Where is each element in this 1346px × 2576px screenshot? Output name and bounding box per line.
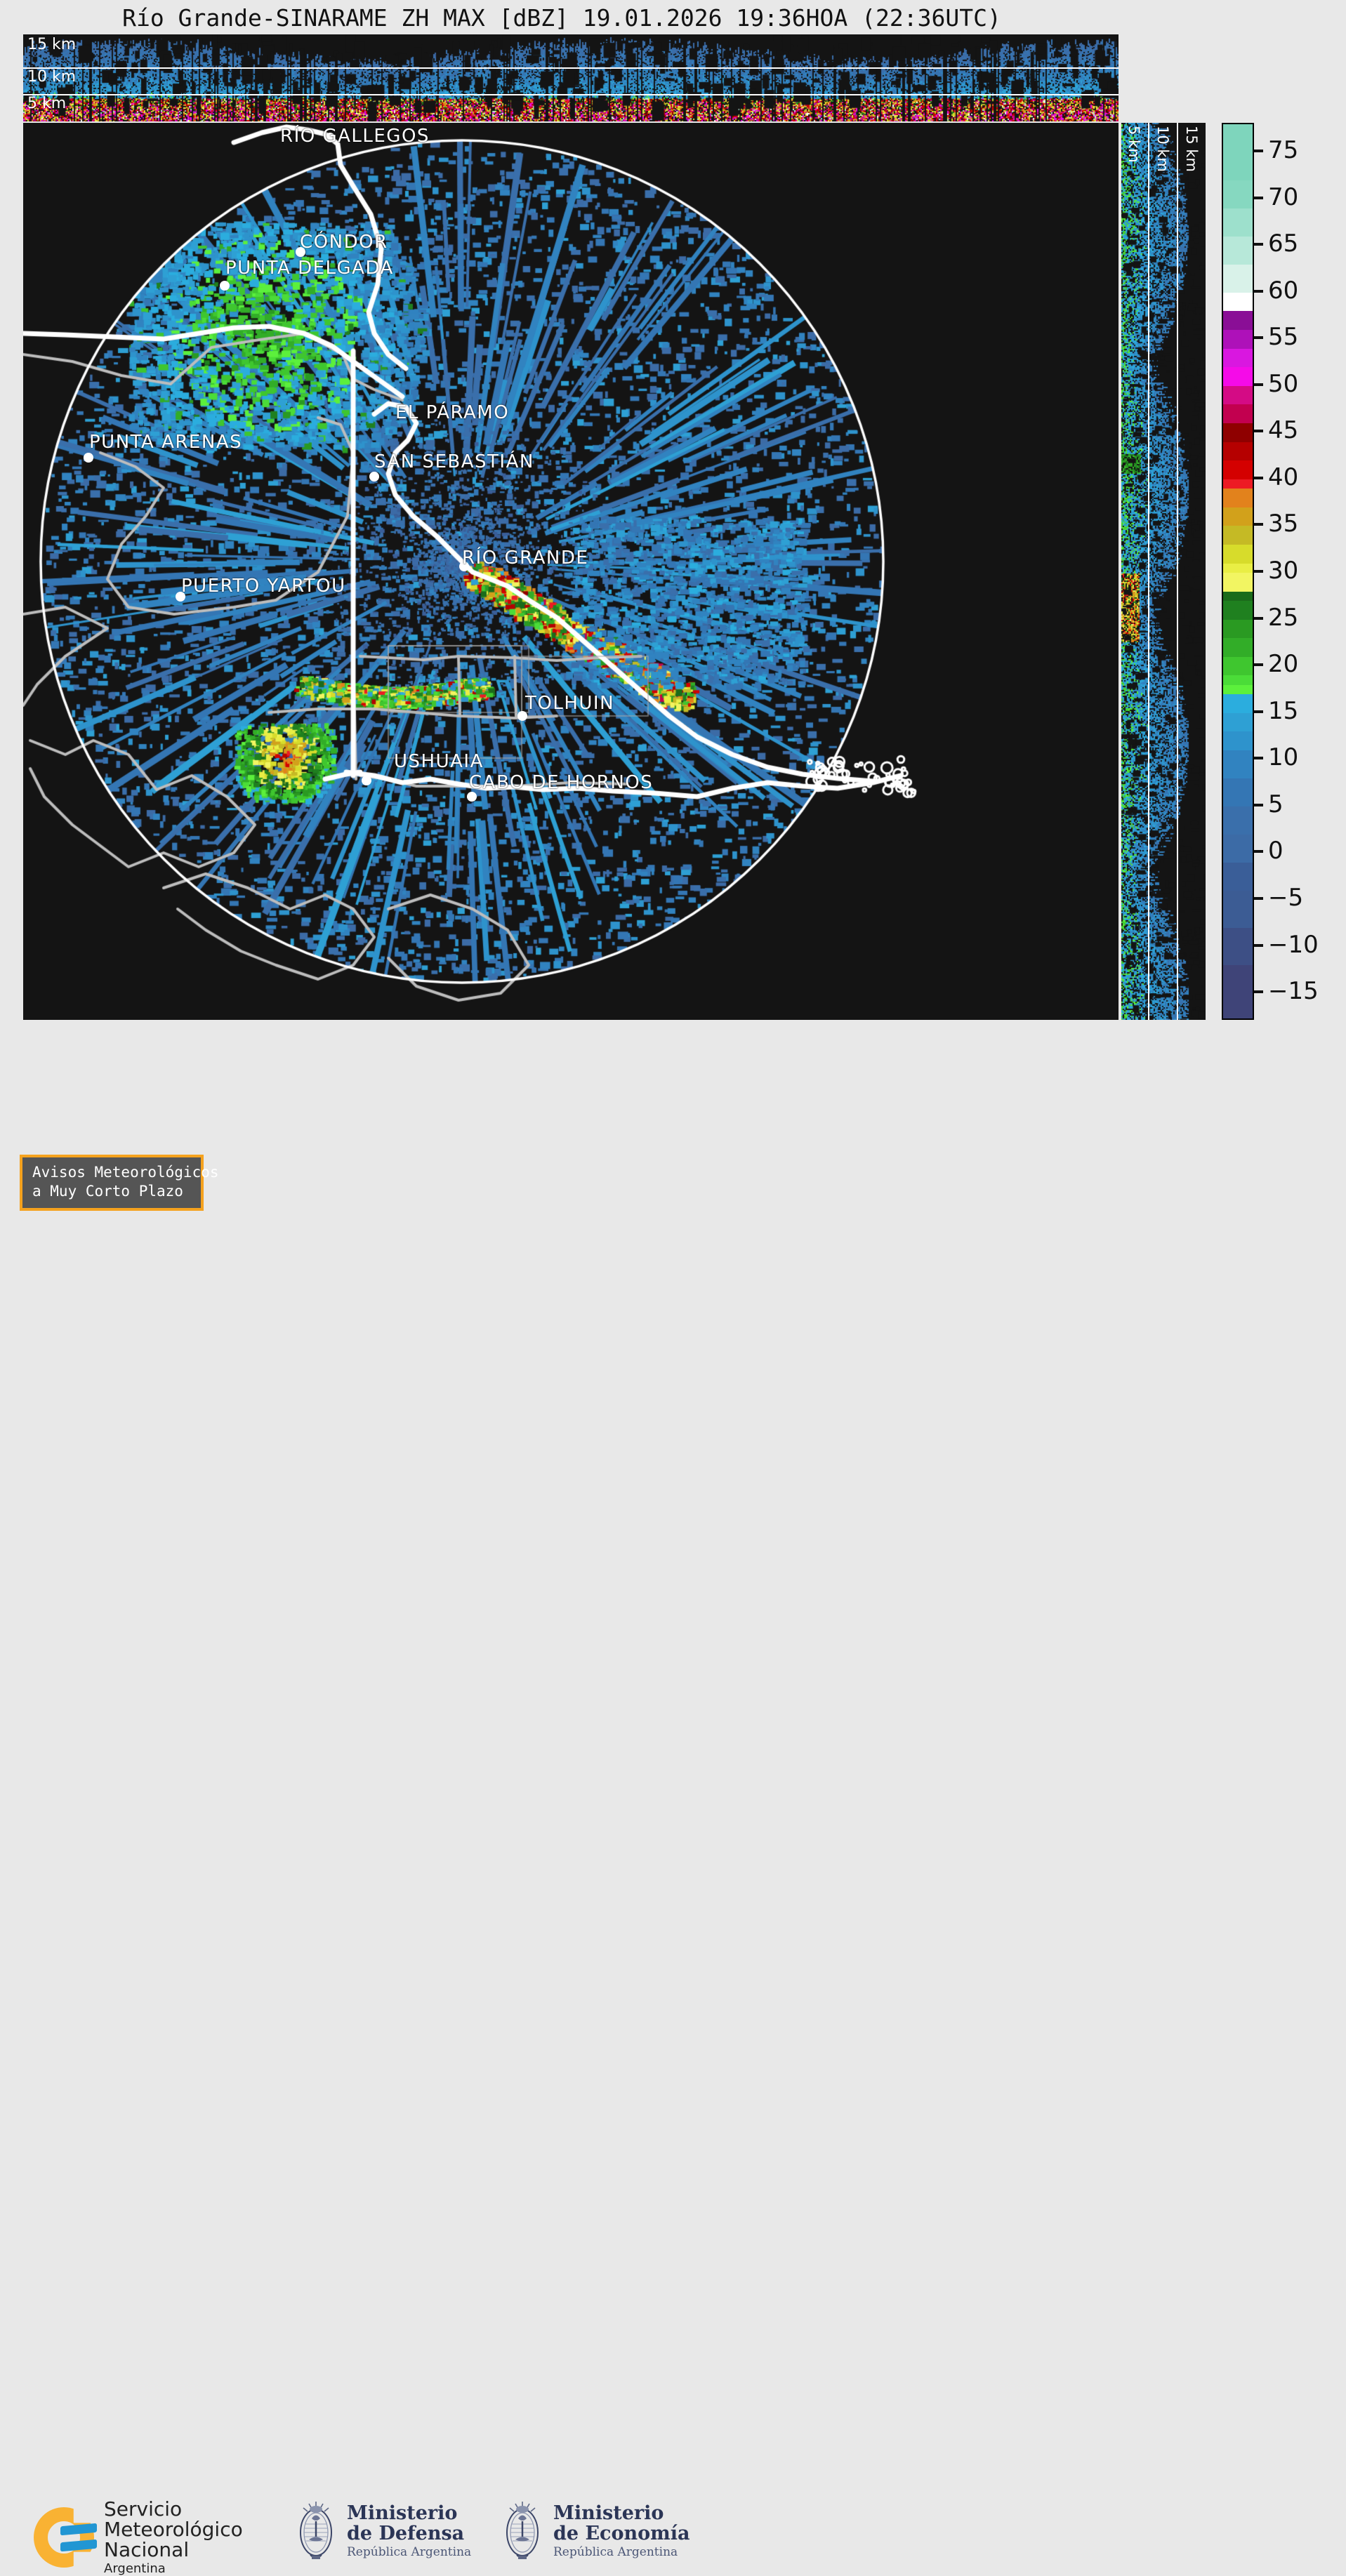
colorbar-band: [1223, 386, 1253, 405]
colorbar-band: [1223, 928, 1253, 965]
colorbar-gradient: [1222, 123, 1254, 1020]
colorbar-band: [1223, 293, 1253, 312]
logo-ministerio-de-defensa: Ministerio de Defensa República Argentin…: [293, 2500, 471, 2562]
colorbar-band: [1223, 601, 1253, 620]
city-label: USHUAIA: [394, 751, 484, 772]
colorbar-band: [1223, 460, 1253, 479]
altitude-label-right-5km: 5 km: [1126, 126, 1142, 163]
altitude-label-right-15km: 15 km: [1183, 126, 1200, 172]
colorbar-band: [1223, 367, 1253, 386]
city-label: CABO DE HORNOS: [469, 772, 653, 793]
altitude-gridline-5km: [23, 94, 1119, 95]
right-cross-section-panel: 5 km 10 km 15 km: [1121, 123, 1206, 1020]
city-label: CÓNDOR: [300, 232, 388, 253]
colorbar-band: [1223, 124, 1253, 152]
colorbar-band: [1223, 442, 1253, 461]
top-cross-section-canvas: [23, 34, 1119, 121]
altitude-gridline-right-10km: [1177, 123, 1178, 1020]
economia-line-1: Ministerio: [553, 2503, 690, 2523]
colorbar-band: [1223, 237, 1253, 265]
colorbar-band: [1223, 404, 1253, 423]
colorbar: 757065605550454035302520151050−5−10−15: [1222, 123, 1341, 1020]
smn-subtitle: Argentina: [104, 2563, 243, 2576]
smn-line-3: Nacional: [104, 2540, 243, 2560]
smn-line-1: Servicio: [104, 2499, 243, 2519]
colorbar-band: [1223, 965, 1253, 1020]
colorbar-band: [1223, 592, 1253, 601]
city-marker-dot: [467, 792, 477, 802]
altitude-label-10km: 10 km: [27, 69, 76, 85]
warning-line-1: Avisos Meteorológicos: [32, 1163, 192, 1182]
colorbar-band: [1223, 694, 1253, 713]
smn-line-2: Meteorológico: [104, 2519, 243, 2540]
weather-warning-legend[interactable]: Avisos Meteorológicos a Muy Corto Plazo: [20, 1155, 204, 1211]
city-marker-dot: [84, 453, 93, 463]
colorbar-band: [1223, 152, 1253, 180]
colorbar-tick-labels: 757065605550454035302520151050−5−10−15: [1254, 123, 1341, 1020]
colorbar-band: [1223, 349, 1253, 368]
defensa-line-1: Ministerio: [347, 2503, 471, 2523]
colorbar-band: [1223, 489, 1253, 507]
colorbar-band: [1223, 778, 1253, 806]
radar-map-canvas: [23, 123, 1119, 1020]
right-cross-section-canvas: [1121, 123, 1206, 1020]
city-label: PUERTO YARTOU: [181, 576, 346, 597]
warning-line-2: a Muy Corto Plazo: [32, 1182, 192, 1201]
colorbar-band: [1223, 208, 1253, 237]
economia-subtitle: República Argentina: [553, 2546, 690, 2558]
colorbar-band: [1223, 507, 1253, 526]
colorbar-band: [1223, 863, 1253, 891]
argentina-coat-of-arms-icon-2: [500, 2500, 545, 2562]
colorbar-band: [1223, 479, 1253, 489]
colorbar-band: [1223, 620, 1253, 639]
economia-line-2: de Economía: [553, 2523, 690, 2544]
colorbar-band: [1223, 806, 1253, 835]
colorbar-band: [1223, 265, 1253, 293]
footer-logo-bar: Servicio Meteorológico Nacional Argentin…: [0, 1242, 1346, 1340]
city-label: TOLHUIN: [525, 693, 614, 714]
colorbar-band: [1223, 835, 1253, 863]
defensa-subtitle: República Argentina: [347, 2546, 471, 2558]
argentina-coat-of-arms-icon: [293, 2500, 338, 2562]
colorbar-band: [1223, 573, 1253, 592]
colorbar-band: [1223, 675, 1253, 684]
radar-ppi-map[interactable]: RÍO GALLEGOSCÓNDORPUNTA DELGADAPUNTA ARE…: [23, 123, 1119, 1020]
city-marker-dot: [369, 472, 379, 482]
city-label: RÍO GALLEGOS: [280, 126, 430, 147]
city-marker-dot: [220, 281, 230, 291]
colorbar-band: [1223, 423, 1253, 442]
altitude-label-15km: 15 km: [27, 37, 76, 53]
top-cross-section-panel: 15 km 10 km 5 km: [23, 34, 1119, 121]
colorbar-band: [1223, 330, 1253, 349]
colorbar-band: [1223, 750, 1253, 778]
altitude-label-right-10km: 10 km: [1154, 126, 1171, 172]
colorbar-band: [1223, 545, 1253, 564]
colorbar-band: [1223, 180, 1253, 208]
defensa-line-2: de Defensa: [347, 2523, 471, 2544]
colorbar-band: [1223, 526, 1253, 545]
colorbar-band: [1223, 713, 1253, 732]
colorbar-band: [1223, 891, 1253, 928]
colorbar-band: [1223, 311, 1253, 330]
altitude-gridline-right-5km: [1148, 123, 1149, 1020]
city-label: SAN SEBASTIÁN: [374, 451, 534, 472]
smn-logo-icon: [34, 2507, 94, 2568]
altitude-label-5km: 5 km: [27, 96, 66, 112]
colorbar-band: [1223, 685, 1253, 694]
altitude-gridline-10km: [23, 67, 1119, 69]
city-label: PUNTA DELGADA: [225, 258, 394, 279]
page-title: Río Grande-SINARAME ZH MAX [dBZ] 19.01.2…: [0, 4, 1123, 32]
colorbar-band: [1223, 657, 1253, 676]
city-marker-dot: [362, 776, 371, 785]
logo-ministerio-de-economia: Ministerio de Economía República Argenti…: [500, 2500, 690, 2562]
city-label: PUNTA ARENAS: [89, 432, 242, 453]
colorbar-band: [1223, 638, 1253, 657]
colorbar-band: [1223, 731, 1253, 750]
city-label: EL PÁRAMO: [395, 402, 509, 423]
logo-servicio-meteorologico-nacional: Servicio Meteorológico Nacional Argentin…: [34, 2499, 243, 2576]
city-label: RÍO GRANDE: [462, 547, 588, 569]
